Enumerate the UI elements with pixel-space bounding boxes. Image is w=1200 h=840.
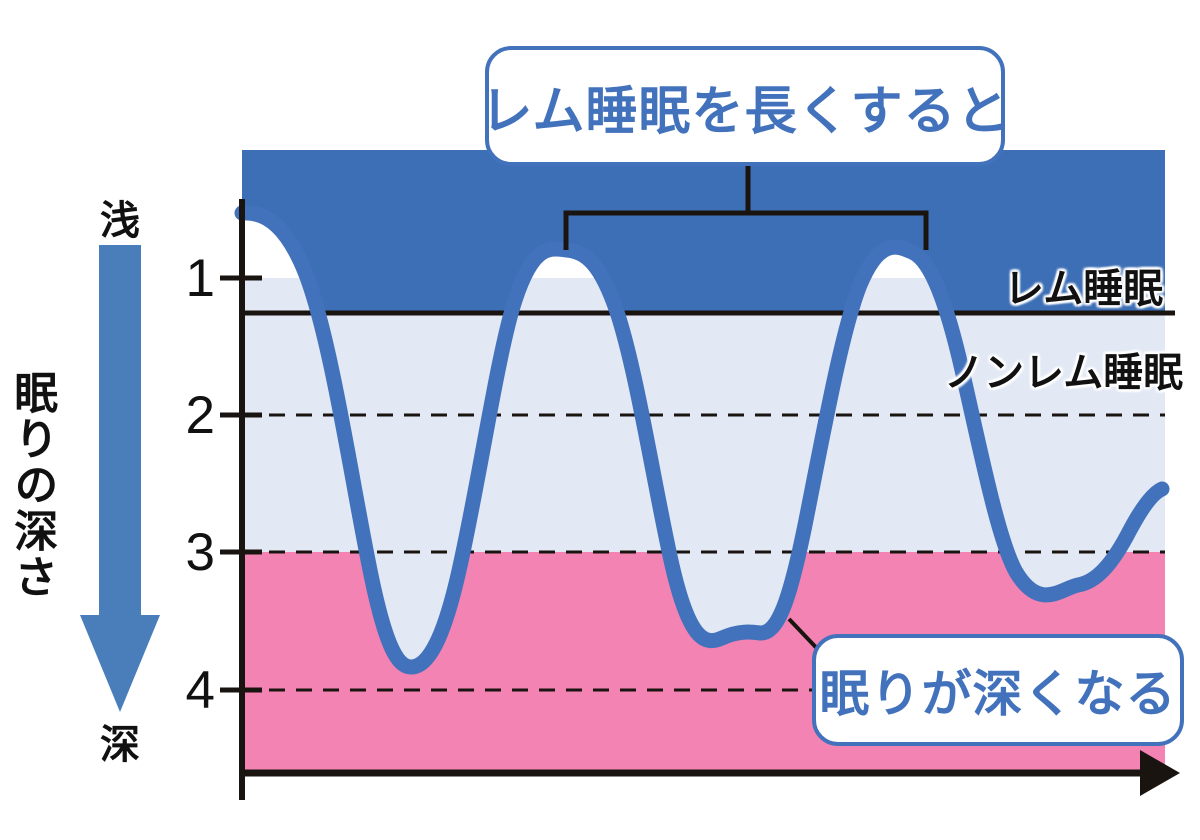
depth-arrow (80, 245, 160, 712)
y-tick-label-2: 2 (157, 389, 215, 442)
y-tick-label-1: 1 (157, 252, 215, 305)
callout-deeper-sleep[interactable]: 眠りが深くなる (812, 634, 1184, 746)
series-label-rem: レム睡眠 (1004, 256, 1163, 314)
series-label-non-rem: ノンレム睡眠 (944, 340, 1183, 398)
callout-rem-longer-text: レム睡眠を長くすると (481, 69, 1010, 144)
y-axis-caption: 眠りの深さ (8, 370, 54, 600)
y-tick-label-3: 3 (157, 526, 215, 579)
y-tick-label-4: 4 (157, 664, 215, 717)
sleep-cycle-infographic: 1 2 3 4 浅 深 眠りの深さ レム睡眠 ノンレム睡眠 レム睡眠を長くすると… (0, 0, 1200, 840)
arrow-label-shallow: 浅 (100, 188, 140, 246)
arrow-label-deep: 深 (100, 712, 140, 770)
callout-deeper-sleep-text: 眠りが深くなる (820, 654, 1177, 726)
callout-rem-longer[interactable]: レム睡眠を長くすると (485, 46, 1005, 166)
